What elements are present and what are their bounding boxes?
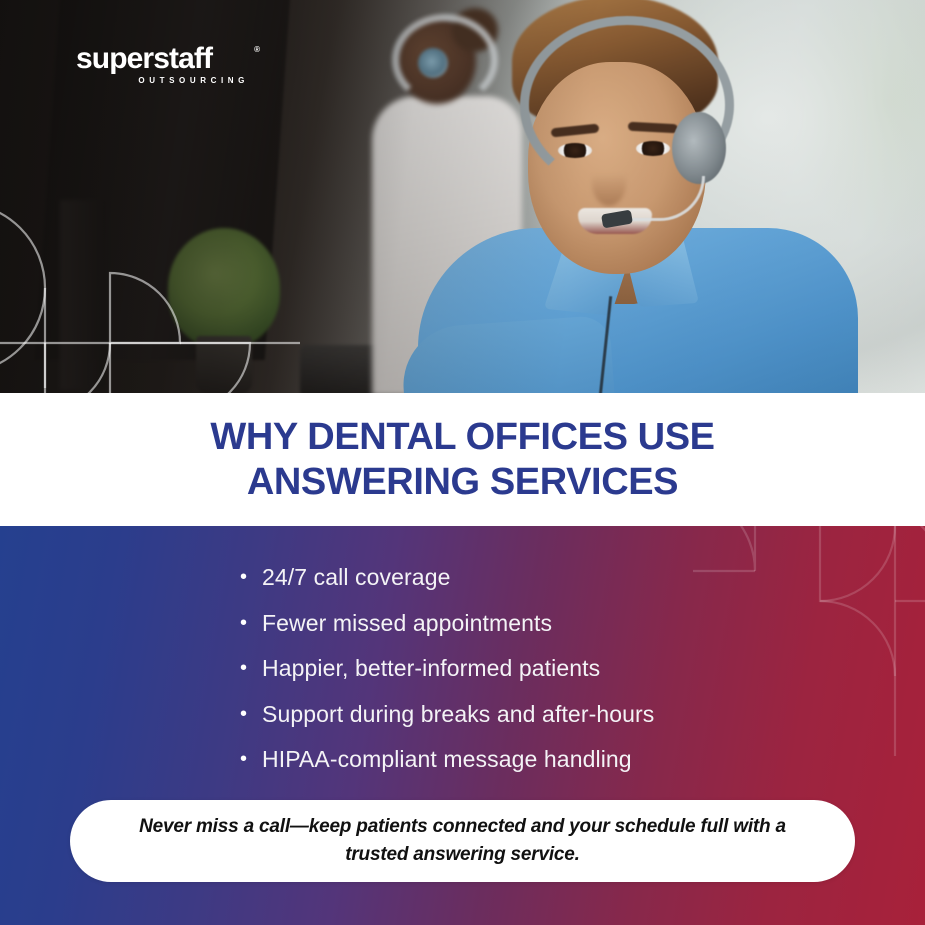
benefits-gradient-band: • 24/7 call coverage • Fewer missed appo… [0,526,925,925]
list-item-label: Happier, better-informed patients [262,655,600,683]
page-title: WHY DENTAL OFFICES USE ANSWERING SERVICE… [183,415,743,505]
list-item-label: Fewer missed appointments [262,610,552,638]
benefits-list: • 24/7 call coverage • Fewer missed appo… [240,564,654,792]
list-item-label: 24/7 call coverage [262,564,450,592]
footer-callout-text: Never miss a call—keep patients connecte… [123,813,803,870]
bullet-dot-icon: • [240,613,262,633]
title-band: WHY DENTAL OFFICES USE ANSWERING SERVICE… [0,393,925,526]
brand-logo: superstaff® OUTSOURCING [76,44,251,85]
logo-subtitle: OUTSOURCING [76,76,251,85]
bullet-dot-icon: • [240,704,262,724]
list-item: • HIPAA-compliant message handling [240,746,654,774]
list-item-label: HIPAA-compliant message handling [262,746,632,774]
registered-trademark-icon: ® [254,45,260,54]
bullet-dot-icon: • [240,749,262,769]
list-item: • Happier, better-informed patients [240,655,654,683]
logo-wordmark: superstaff [76,44,212,74]
infographic-poster: superstaff® OUTSOURCING WHY DENTAL OFFIC… [0,0,925,925]
list-item: • Support during breaks and after-hours [240,701,654,729]
list-item: • Fewer missed appointments [240,610,654,638]
footer-callout-pill: Never miss a call—keep patients connecte… [70,800,855,882]
bullet-dot-icon: • [240,567,262,587]
gradient-arc-decoration-icon [645,526,925,756]
hero-photo-band: superstaff® OUTSOURCING [0,0,925,393]
list-item-label: Support during breaks and after-hours [262,701,654,729]
list-item: • 24/7 call coverage [240,564,654,592]
bullet-dot-icon: • [240,658,262,678]
